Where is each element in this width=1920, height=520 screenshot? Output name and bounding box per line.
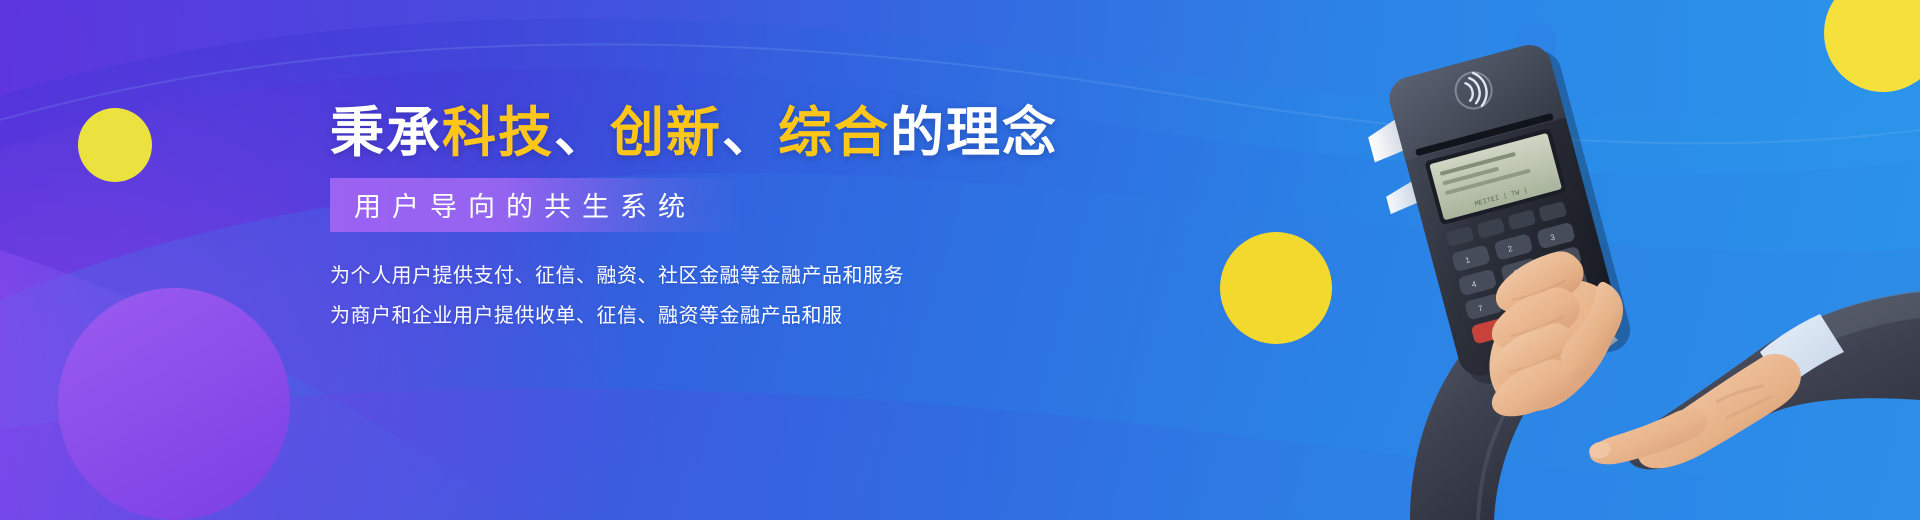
headline-segment-2: 、 (554, 103, 610, 163)
description-line-1: 为个人用户提供支付、征信、融资、社区金融等金融产品和服务 (330, 256, 1310, 296)
headline-segment-0: 秉承 (330, 103, 442, 163)
headline-segment-5: 综合 (778, 103, 890, 163)
page-title: 秉承科技、创新、综合的理念 (330, 104, 1310, 162)
subtitle-highlight-box: 用户导向的共生系统 (330, 178, 742, 232)
subtitle: 用户导向的共生系统 (354, 185, 696, 224)
headline-segment-1: 科技 (442, 103, 554, 163)
headline-segment-4: 、 (722, 103, 778, 163)
hero-banner: MEITEI | TW | (0, 0, 1920, 520)
purple-circle-bottom-left-icon (58, 288, 290, 520)
headline-segment-6: 的理念 (890, 103, 1058, 163)
headline-segment-3: 创新 (610, 103, 722, 163)
banner-description: 为个人用户提供支付、征信、融资、社区金融等金融产品和服务 为商户和企业用户提供收… (330, 256, 1310, 336)
pointing-arm (1587, 290, 1920, 520)
yellow-circle-left-icon (78, 108, 152, 182)
banner-text-block: 秉承科技、创新、综合的理念 用户导向的共生系统 为个人用户提供支付、征信、融资、… (330, 104, 1310, 336)
description-line-2: 为商户和企业用户提供收单、征信、融资等金融产品和服 (330, 296, 1310, 336)
